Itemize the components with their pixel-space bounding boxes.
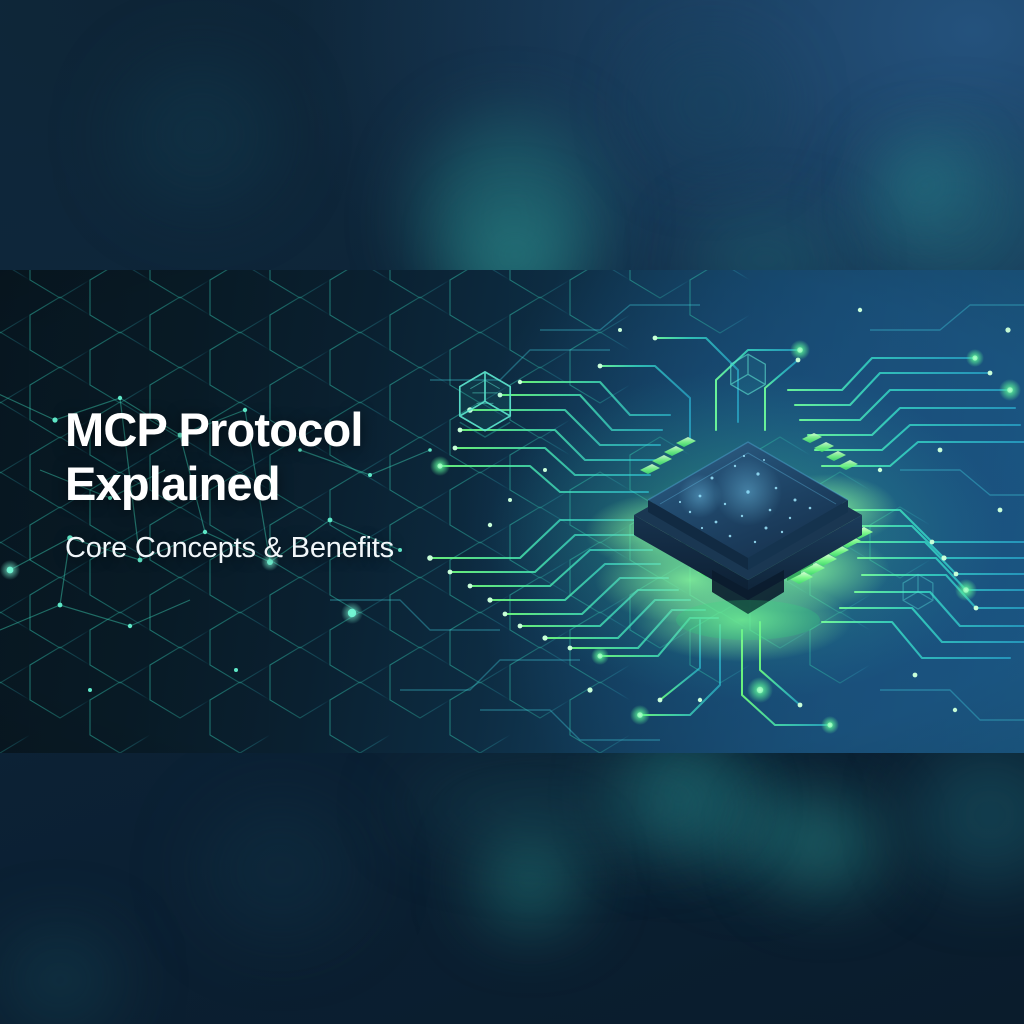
backdrop-glow — [120, 60, 280, 210]
chip-pins-top-left — [640, 437, 696, 474]
page-subtitle: Core Concepts & Benefits — [65, 532, 394, 565]
chip-pins-top-right — [802, 433, 858, 470]
hero-banner: MCP Protocol Explained Core Concepts & B… — [0, 270, 1024, 753]
backdrop-glow — [0, 930, 120, 1024]
backdrop-glow — [700, 780, 800, 870]
backdrop-glow — [640, 40, 780, 170]
banner-text-block: MCP Protocol Explained Core Concepts & B… — [65, 403, 394, 565]
backdrop-glow — [890, 150, 960, 220]
backdrop-glow — [770, 800, 880, 890]
screenshot-canvas: MCP Protocol Explained Core Concepts & B… — [0, 0, 1024, 1024]
backdrop-glow — [200, 800, 360, 940]
page-title: MCP Protocol Explained — [65, 403, 394, 511]
backdrop-glow — [910, 745, 1024, 885]
backdrop-glow — [480, 835, 580, 925]
backdrop-glow — [620, 740, 740, 850]
backdrop-glow — [400, 760, 740, 850]
